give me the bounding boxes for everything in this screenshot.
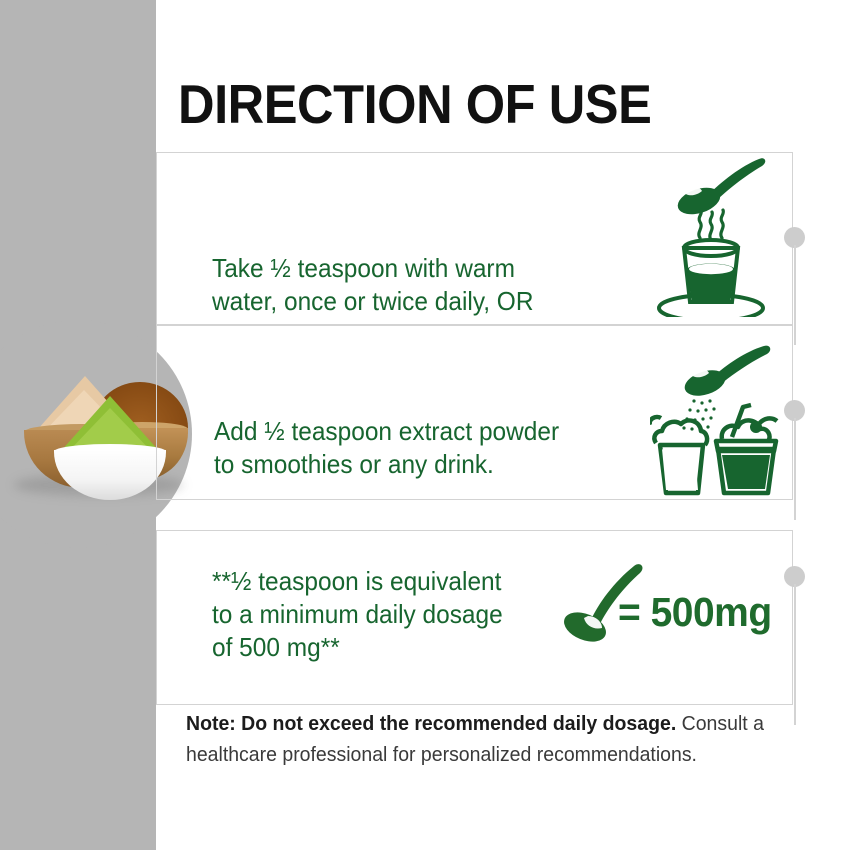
connector-stem [794,584,796,725]
note-text: Note: Do not exceed the recommended dail… [186,708,775,770]
infographic-page: DIRECTION OF USE Take ½ teaspoon with wa… [0,0,850,850]
connector-stem [794,245,796,345]
page-title: DIRECTION OF USE [178,72,651,136]
spoon-over-warm-glass-icon [655,152,790,317]
dosage-equivalence-label: = 500mg [618,589,772,636]
spoon-sprinkling-over-smoothies-icon [650,345,795,500]
direction-text-dosage: **½ teaspoon is equivalent to a minimum … [212,565,503,664]
direction-text-warm-water: Take ½ teaspoon with warm water, once or… [212,252,533,318]
direction-text-smoothie: Add ½ teaspoon extract powder to smoothi… [214,415,559,481]
note-bold-prefix: Note: Do not exceed the recommended dail… [186,712,676,735]
